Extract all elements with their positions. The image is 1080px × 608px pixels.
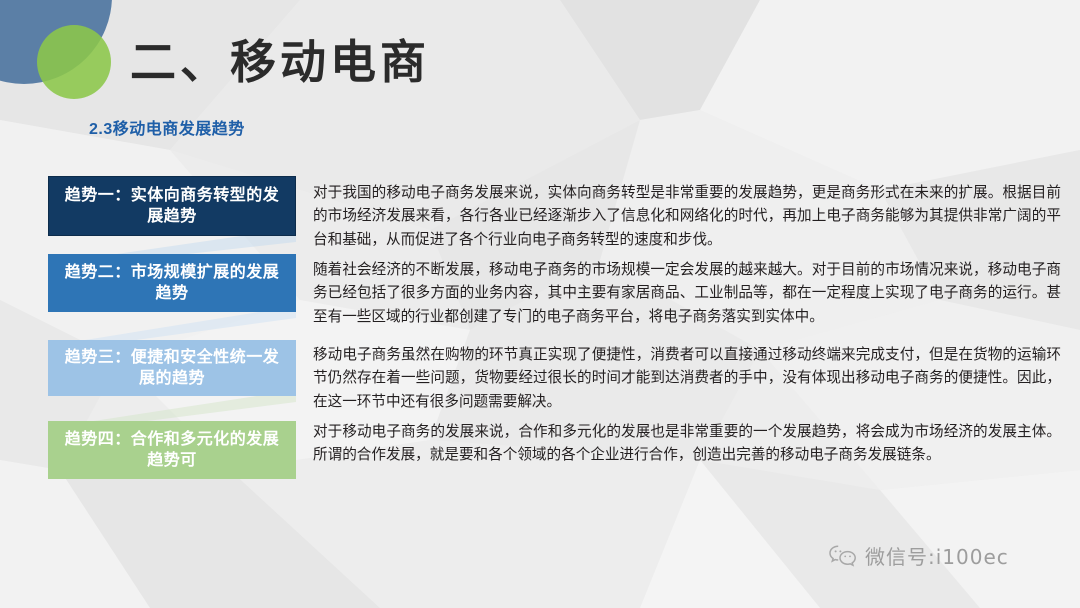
watermark-text: 微信号:i100ec [865, 541, 1009, 570]
decorative-green-circle [37, 25, 111, 99]
trend-paragraph-2: 随着社会经济的不断发展，移动电子商务的市场规模一定会发展的越来越大。对于目前的市… [313, 258, 1061, 328]
trend-paragraph-1: 对于我国的移动电子商务发展来说，实体向商务转型是非常重要的发展趋势，更是商务形式… [313, 181, 1061, 251]
trend-box-1[interactable]: 趋势一：实体向商务转型的发展趋势 [48, 176, 296, 236]
watermark: 微信号:i100ec [828, 541, 1009, 570]
trend-paragraph-4: 对于移动电子商务的发展来说，合作和多元化的发展也是非常重要的一个发展趋势，将会成… [313, 420, 1061, 467]
page-title: 二、移动电商 [130, 26, 430, 92]
wechat-icon [828, 544, 858, 568]
section-subtitle: 2.3移动电商发展趋势 [89, 115, 245, 139]
trend-box-4[interactable]: 趋势四：合作和多元化的发展趋势可 [48, 421, 296, 479]
trend-box-3[interactable]: 趋势三：便捷和安全性统一发展的趋势 [48, 340, 296, 396]
trend-box-2-label: 趋势二：市场规模扩展的发展趋势 [58, 262, 286, 304]
trend-box-1-label: 趋势一：实体向商务转型的发展趋势 [59, 185, 285, 227]
trend-box-3-label: 趋势三：便捷和安全性统一发展的趋势 [58, 347, 286, 389]
slide-canvas: 二、移动电商 2.3移动电商发展趋势 趋势一：实体向商务转型的发展趋势 趋势二：… [0, 0, 1080, 608]
trend-box-4-label: 趋势四：合作和多元化的发展趋势可 [58, 429, 286, 471]
trend-box-2[interactable]: 趋势二：市场规模扩展的发展趋势 [48, 254, 296, 312]
trend-paragraph-3: 移动电子商务虽然在购物的环节真正实现了便捷性，消费者可以直接通过移动终端来完成支… [313, 343, 1061, 413]
